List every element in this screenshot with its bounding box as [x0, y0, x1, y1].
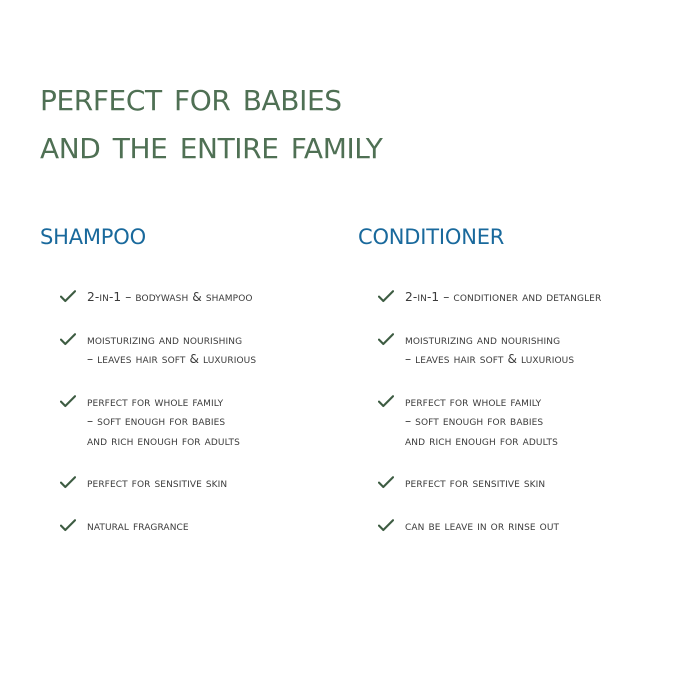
feature-text: 2-IN-1 – conditioner and Detangler — [405, 288, 658, 308]
check-icon — [60, 290, 76, 303]
feature-text: Moisturizing and Nourishing – Leaves hai… — [405, 331, 658, 370]
column-shampoo: shampoo 2-IN-1 – Bodywash & shampoo — [40, 218, 340, 536]
list-item: Moisturizing and Nourishing – Leaves hai… — [358, 331, 658, 370]
feature-text: 2-IN-1 – Bodywash & shampoo — [87, 288, 340, 308]
feature-text: can be leave in or rinse out — [405, 517, 658, 537]
feature-list-shampoo: 2-IN-1 – Bodywash & shampoo Moisturizing… — [40, 288, 340, 536]
feature-text: Natural Fragrance — [87, 517, 340, 537]
list-item: 2-IN-1 – Bodywash & shampoo — [40, 288, 340, 308]
feature-list-conditioner: 2-IN-1 – conditioner and Detangler Moist… — [358, 288, 658, 536]
check-icon — [60, 395, 76, 408]
check-icon — [378, 519, 394, 532]
column-conditioner: conditioner 2-IN-1 – conditioner and Det… — [358, 218, 658, 536]
check-icon — [378, 290, 394, 303]
check-icon — [378, 476, 394, 489]
check-icon — [378, 395, 394, 408]
infographic-canvas: perfect for babies and the entire family… — [0, 0, 679, 679]
list-item: Perfect for sensitive skin — [358, 474, 658, 494]
list-item: can be leave in or rinse out — [358, 517, 658, 537]
page-title-line-2: and the entire family — [40, 121, 620, 169]
feature-text: Perfect for sensitive skin — [87, 474, 340, 494]
list-item: Perfect for sensitive skin — [40, 474, 340, 494]
feature-text: Perfect for whole family – soft enough f… — [87, 393, 340, 452]
list-item: Natural Fragrance — [40, 517, 340, 537]
page-title-line-1: perfect for babies — [40, 73, 620, 121]
list-item: Perfect for whole family – soft enough f… — [358, 393, 658, 452]
feature-text: Moisturizing and Nourishing – Leaves hai… — [87, 331, 340, 370]
page-title: perfect for babies and the entire family — [40, 73, 620, 169]
feature-text: Perfect for sensitive skin — [405, 474, 658, 494]
check-icon — [60, 519, 76, 532]
check-icon — [60, 476, 76, 489]
list-item: Perfect for whole family – soft enough f… — [40, 393, 340, 452]
list-item: Moisturizing and Nourishing – Leaves hai… — [40, 331, 340, 370]
feature-text: Perfect for whole family – soft enough f… — [405, 393, 658, 452]
column-title-conditioner: conditioner — [358, 218, 658, 252]
list-item: 2-IN-1 – conditioner and Detangler — [358, 288, 658, 308]
check-icon — [60, 333, 76, 346]
column-title-shampoo: shampoo — [40, 218, 340, 252]
check-icon — [378, 333, 394, 346]
